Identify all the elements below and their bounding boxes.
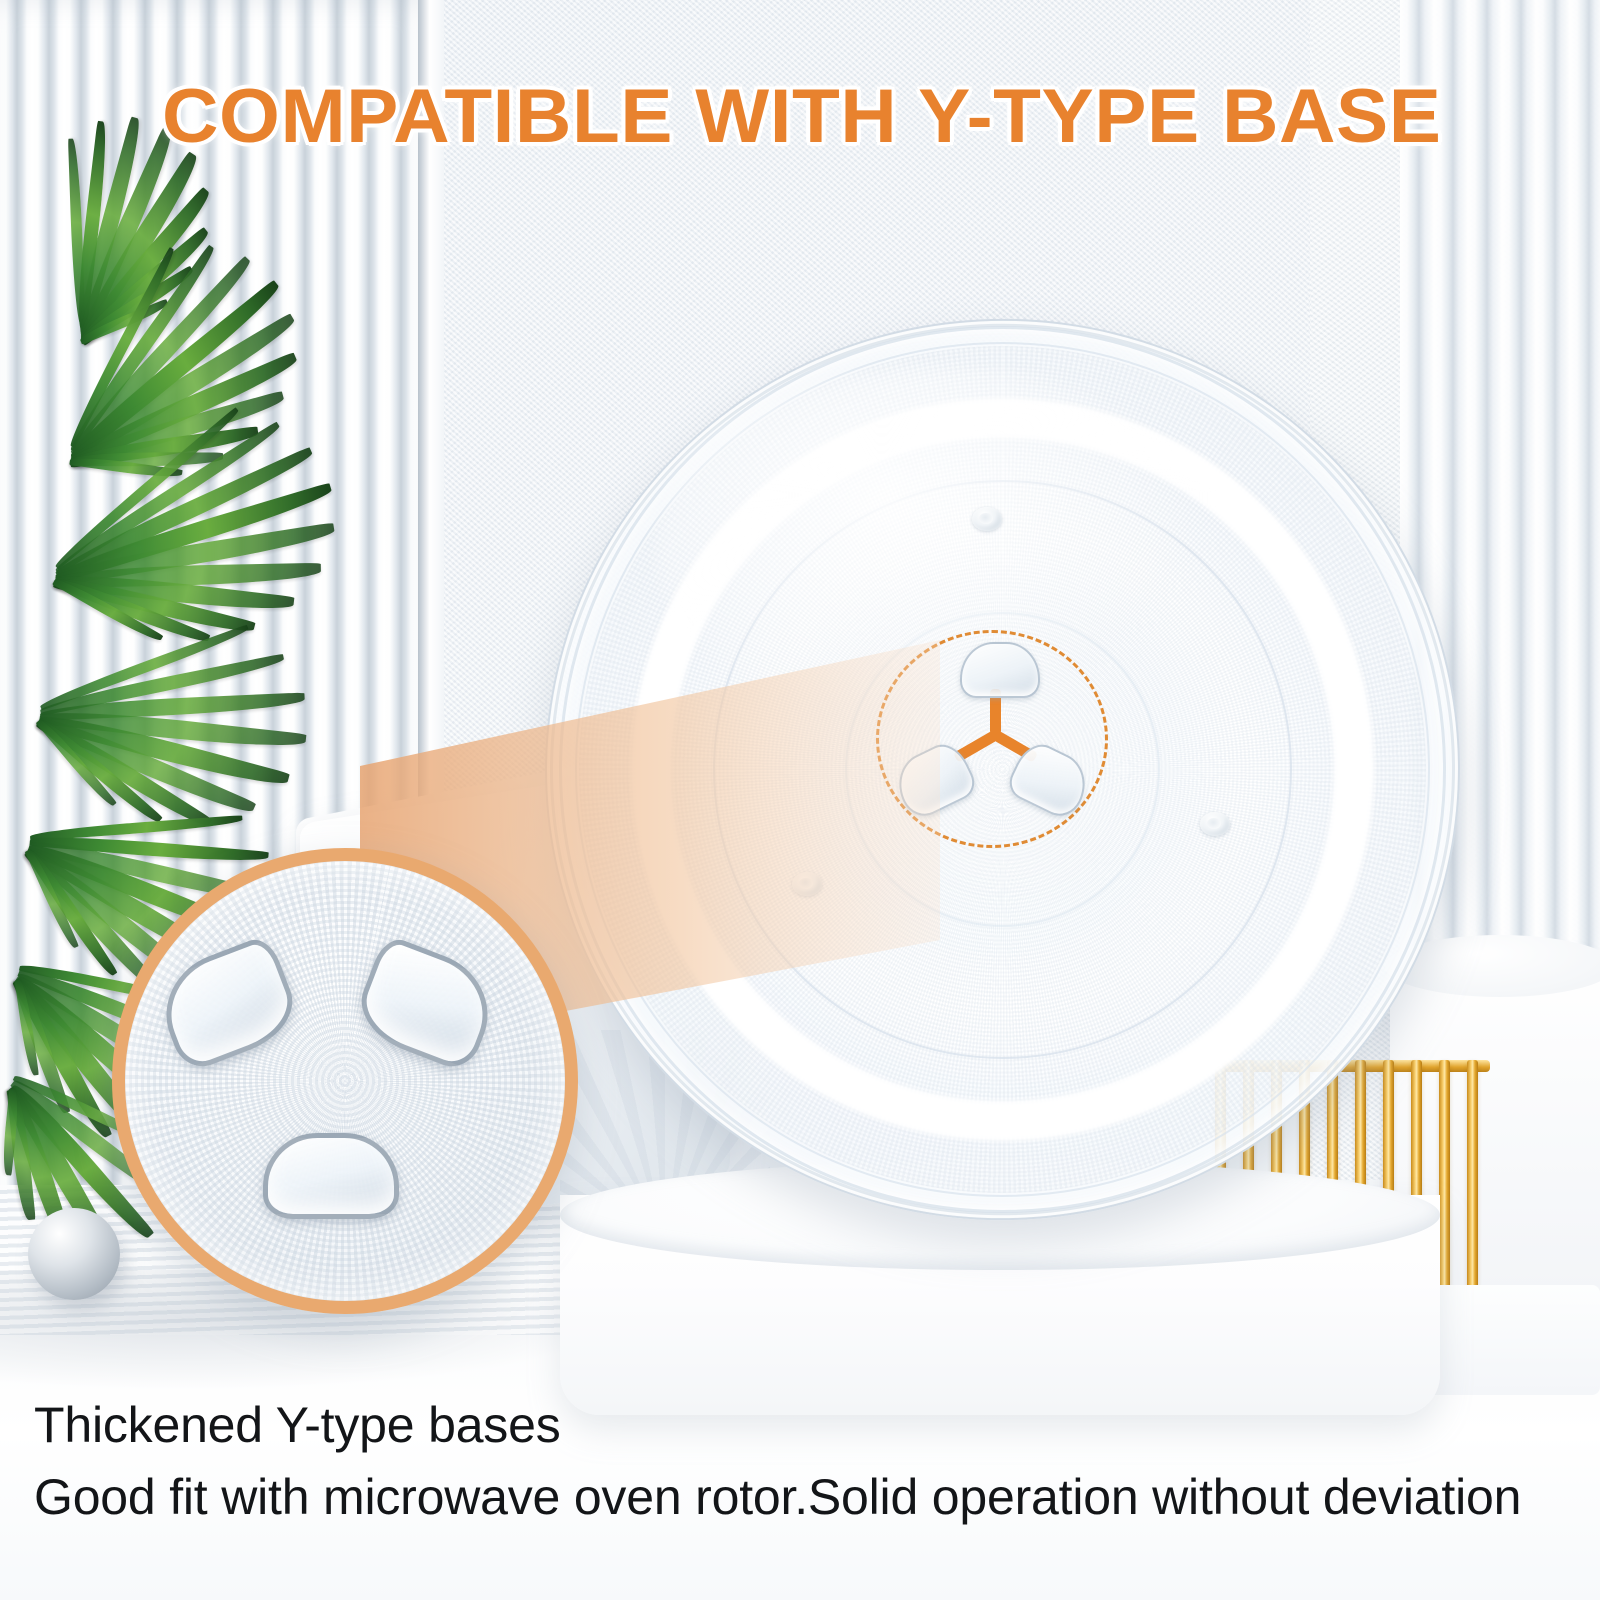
- magnified-tab-right: [349, 933, 505, 1074]
- y-base-tab: [960, 642, 1040, 698]
- gold-rack-bar: [1467, 1060, 1478, 1309]
- caption-line-1: Thickened Y-type bases: [34, 1398, 561, 1452]
- magnified-tab-left: [149, 933, 305, 1074]
- magnifier-callout: [112, 848, 578, 1314]
- plate-nub: [972, 507, 1002, 531]
- glass-turntable-plate: [545, 312, 1460, 1227]
- product-marketing-image: COMPATIBLE WITH Y-TYPE BASE Thickened Y-…: [0, 0, 1600, 1600]
- headline: COMPATIBLE WITH Y-TYPE BASE: [162, 78, 1480, 156]
- caption-line-2: Good fit with microwave oven rotor.Solid…: [34, 1470, 1521, 1524]
- magnified-tab-bottom: [263, 1133, 399, 1219]
- plate-nub: [1200, 812, 1230, 836]
- decor-sphere: [28, 1208, 120, 1300]
- plate-nub: [792, 872, 822, 896]
